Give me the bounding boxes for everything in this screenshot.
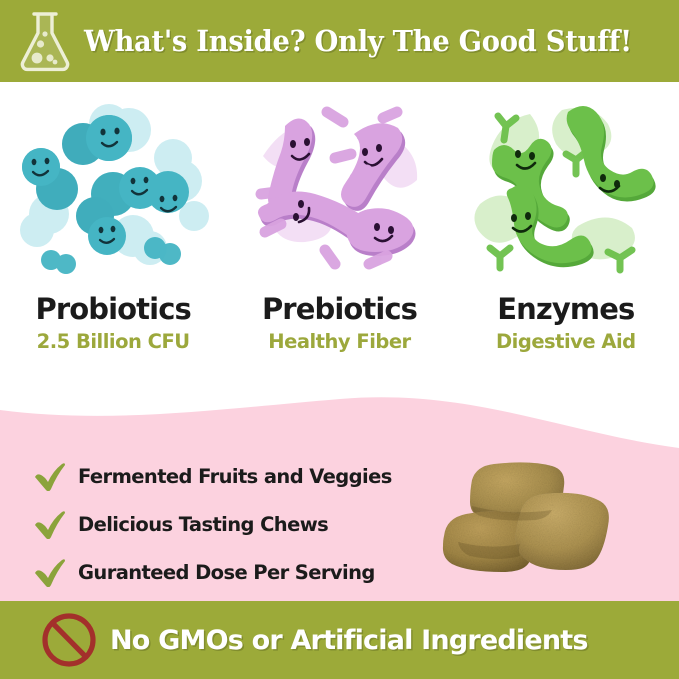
ingredient-title: Enzymes — [497, 295, 634, 324]
ingredient-column-enzymes: Enzymes Digestive Aid — [453, 82, 679, 412]
flask-icon — [14, 8, 76, 74]
ingredient-column-probiotics: Probiotics 2.5 Billion CFU — [0, 82, 226, 412]
chew-cubes-photo — [436, 450, 654, 585]
check-icon — [32, 509, 66, 539]
ingredient-subtitle: Healthy Fiber — [268, 332, 410, 352]
list-item: Delicious Tasting Chews — [32, 503, 432, 545]
prebiotic-fiber-illustration — [239, 96, 439, 281]
list-item-label: Delicious Tasting Chews — [78, 513, 328, 536]
enzyme-illustration — [466, 96, 666, 281]
ingredient-title: Probiotics — [35, 295, 190, 324]
benefits-list: Fermented Fruits and Veggies Delicious T… — [32, 455, 432, 599]
check-icon — [32, 461, 66, 491]
list-item-label: Guranteed Dose Per Serving — [78, 561, 375, 584]
ingredient-subtitle: 2.5 Billion CFU — [37, 332, 190, 352]
ingredient-subtitle: Digestive Aid — [496, 332, 636, 352]
header-bar: What's Inside? Only The Good Stuff! — [0, 0, 679, 82]
no-entry-icon — [40, 611, 98, 669]
footer-title: No GMOs or Artificial Ingredients — [110, 601, 588, 679]
list-item: Guranteed Dose Per Serving — [32, 551, 432, 593]
page-title: What's Inside? Only The Good Stuff! — [84, 0, 632, 82]
ingredient-title: Prebiotics — [262, 295, 417, 324]
list-item: Fermented Fruits and Veggies — [32, 455, 432, 497]
list-item-label: Fermented Fruits and Veggies — [78, 465, 392, 488]
check-icon — [32, 557, 66, 587]
probiotic-bacteria-illustration — [13, 96, 213, 281]
ingredients-section: Probiotics 2.5 Billion CFU — [0, 82, 679, 412]
ingredient-column-prebiotics: Prebiotics Healthy Fiber — [226, 82, 452, 412]
infographic-page: What's Inside? Only The Good Stuff! — [0, 0, 679, 679]
